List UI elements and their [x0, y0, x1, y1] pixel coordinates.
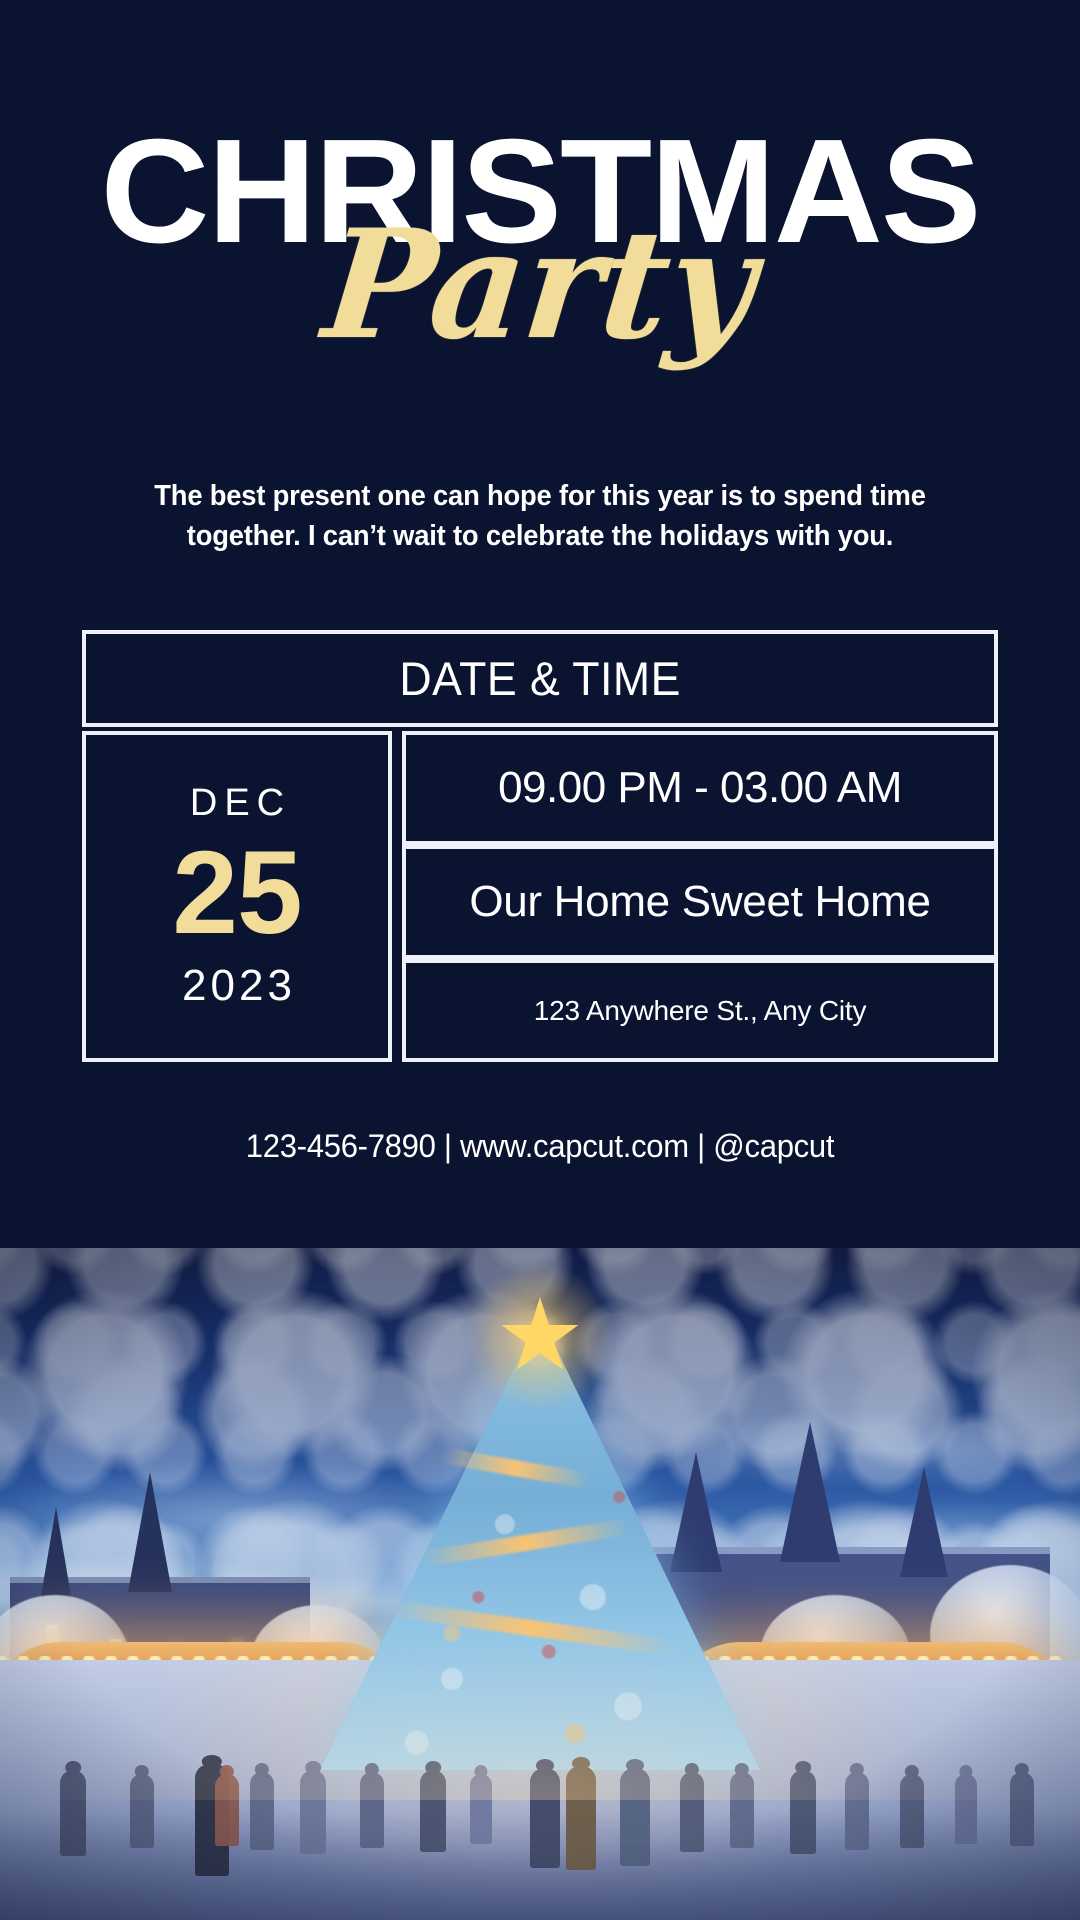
person-silhouette	[620, 1768, 650, 1866]
date-year: 2023	[178, 961, 296, 1011]
person-silhouette	[566, 1766, 596, 1870]
church-spire-small	[40, 1507, 72, 1602]
person-silhouette	[470, 1774, 492, 1844]
person-silhouette	[790, 1770, 816, 1854]
date-day: 25	[172, 833, 301, 953]
person-silhouette	[955, 1774, 977, 1844]
detail-rows: 09.00 PM - 03.00 AM Our Home Sweet Home …	[402, 731, 998, 1062]
person-silhouette	[530, 1768, 560, 1868]
person-silhouette	[250, 1772, 274, 1850]
date-month: DEC	[183, 782, 291, 825]
date-column: DEC 25 2023	[82, 731, 392, 1062]
person-silhouette	[680, 1772, 704, 1852]
page-title-script: Party	[8, 210, 1071, 360]
star-icon	[497, 1294, 583, 1380]
person-silhouette	[730, 1772, 754, 1848]
church-spire	[128, 1472, 172, 1592]
contact-line: 123-456-7890 | www.capcut.com | @capcut	[16, 1128, 1064, 1165]
person-silhouette	[360, 1772, 384, 1848]
person-silhouette	[1010, 1772, 1034, 1846]
event-address: 123 Anywhere St., Any City	[402, 959, 998, 1062]
person-silhouette	[420, 1770, 446, 1852]
date-time-header-label: DATE & TIME	[399, 651, 680, 706]
christmas-party-poster: CHRISTMAS Party The best present one can…	[0, 0, 1080, 1920]
person-silhouette	[845, 1772, 869, 1850]
event-venue: Our Home Sweet Home	[402, 845, 998, 959]
intro-paragraph: The best present one can hope for this y…	[108, 476, 972, 557]
poster-title-block: CHRISTMAS Party	[0, 118, 1080, 408]
person-silhouette	[900, 1774, 924, 1848]
christmas-scene-photo	[0, 1248, 1080, 1920]
christmas-tree-icon	[290, 1300, 790, 1770]
person-silhouette	[130, 1774, 154, 1848]
event-time: 09.00 PM - 03.00 AM	[402, 731, 998, 845]
person-silhouette	[300, 1770, 326, 1854]
date-time-header: DATE & TIME	[82, 630, 998, 727]
date-time-table: DATE & TIME DEC 25 2023 09.00 PM - 03.00…	[82, 630, 998, 1062]
person-silhouette	[215, 1774, 239, 1846]
castle-turret	[900, 1467, 948, 1577]
person-silhouette	[60, 1770, 86, 1856]
